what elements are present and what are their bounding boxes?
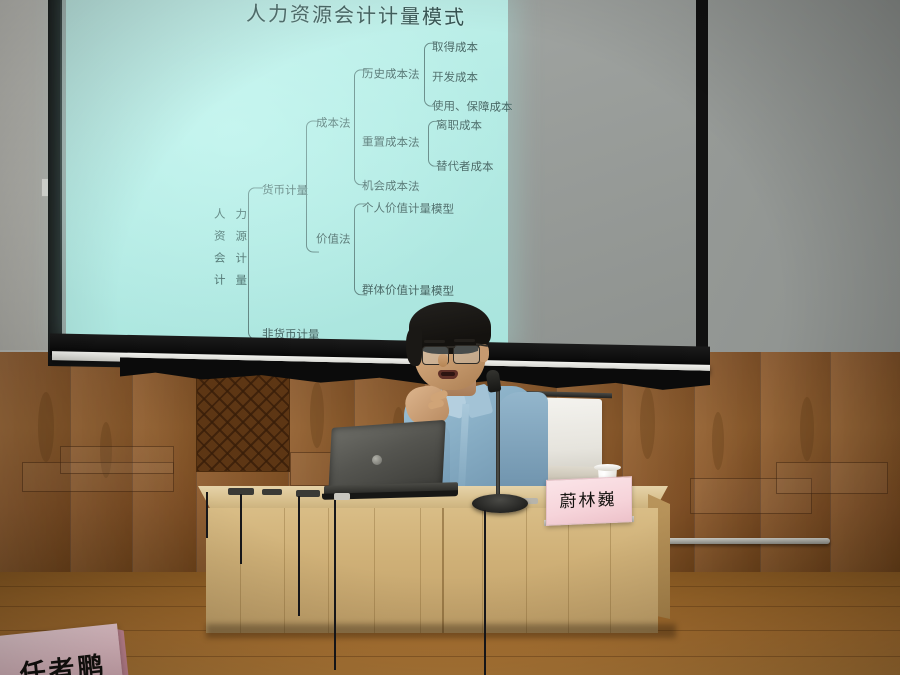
node-monetary: 货币计量 xyxy=(262,182,308,199)
node-acquisition-cost: 取得成本 xyxy=(432,39,478,56)
node-replacement-person-cost: 替代者成本 xyxy=(436,158,494,175)
speaker-mouth-interior xyxy=(441,372,455,376)
podium-shadow xyxy=(206,624,676,638)
node-historical-cost: 历史成本法 xyxy=(362,65,420,82)
cable-1 xyxy=(240,494,284,564)
node-usage-security-cost: 使用、保障成本 xyxy=(432,98,513,115)
node-value-method: 价值法 xyxy=(316,231,351,248)
projected-slide: 人力资源会计计量模式 人力 资源 会计 计量 货币计量 非货币计量 成本法 价值… xyxy=(66,0,508,344)
node-replacement-cost: 重置成本法 xyxy=(362,133,420,150)
laptop-logo-icon xyxy=(372,455,382,465)
eyebrow-right xyxy=(454,339,475,342)
wall-trim-left-2 xyxy=(60,446,174,474)
lecture-photo: 人力资源会计计量模式 人力 资源 会计 计量 货币计量 非货币计量 成本法 价值… xyxy=(0,0,900,675)
node-cost-method: 成本法 xyxy=(316,115,351,132)
brace-cost-method xyxy=(354,69,367,185)
node-individual-value-model: 个人价值计量模型 xyxy=(362,199,454,217)
speaker-right-shoulder xyxy=(496,392,548,497)
node-separation-cost: 离职成本 xyxy=(436,117,482,134)
wall-trim-right-2 xyxy=(776,462,888,494)
brace-root xyxy=(248,187,263,339)
eyeglass-lens-right xyxy=(453,345,480,364)
lattice-grille xyxy=(196,372,290,472)
node-development-cost: 开发成本 xyxy=(432,69,478,86)
microphone-stem xyxy=(496,378,500,498)
node-group-value-model: 群体价值计量模型 xyxy=(362,281,454,299)
node-opportunity-cost: 机会成本法 xyxy=(362,177,420,194)
paper-cup-rim xyxy=(594,464,621,471)
eyebrow-left xyxy=(424,340,445,343)
metal-wall-rail xyxy=(655,538,830,544)
eyeglass-bridge xyxy=(447,346,455,348)
cable-5 xyxy=(206,492,238,538)
speaker-placard-name: 蔚林巍 xyxy=(546,484,630,513)
slide-title: 人力资源会计计量模式 xyxy=(146,0,566,32)
speaker-hair-side xyxy=(406,328,422,366)
speaker-nose xyxy=(438,354,448,367)
